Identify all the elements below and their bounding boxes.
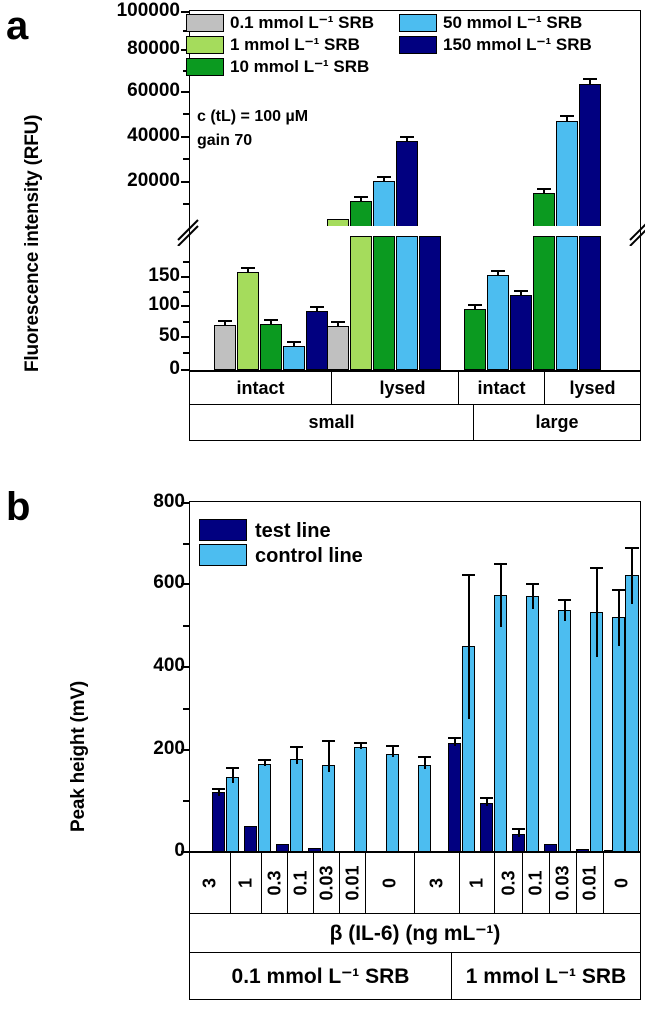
errorbar-cap <box>468 304 482 306</box>
errorbar-cap <box>264 319 278 321</box>
errorbar-cap <box>331 321 345 323</box>
cat-b-l1-0.1: 0.1 <box>287 852 314 914</box>
errorbar-cap <box>514 290 528 292</box>
panel-b-ytick-200: 200 <box>95 738 185 760</box>
bar-b-l1-1-test <box>244 826 257 852</box>
panel-a-annotation-gain: gain 70 <box>197 132 252 150</box>
bar-b-l1-0.3-test <box>276 844 289 852</box>
cat-b-l1-0.03: 0.03 <box>313 852 340 914</box>
bar-b-r1-0.01-control <box>612 617 625 852</box>
errorbar-cap <box>537 188 551 190</box>
errorbar-cap <box>290 746 303 748</box>
errorbar-cap <box>480 797 493 799</box>
legend-swatch-0.1mmol <box>186 14 224 32</box>
errorbar-cap <box>494 563 507 565</box>
legend-label-150mmol: 150 mmol L⁻¹ SRB <box>443 35 592 55</box>
panel-a-ytick-100000: 100000 <box>60 0 180 22</box>
errorbar-cap <box>386 745 399 747</box>
errorbar <box>232 767 234 783</box>
bar-b-r1-0-control <box>625 575 639 852</box>
bar-a-large-intact-10mmol <box>464 309 486 370</box>
legend-swatch-150mmol <box>399 36 437 54</box>
errorbar-cap <box>241 267 255 269</box>
legend-label-test-line: test line <box>255 520 331 543</box>
errorbar <box>500 563 502 627</box>
panel-a-y-axis-title: Fluorescence intensity (RFU) <box>22 115 44 372</box>
axis-break-icon-left <box>176 216 202 246</box>
panel-b-legend: test line control line <box>199 519 429 575</box>
bar-a-large-lysed-150mmol-lower <box>579 236 601 370</box>
bar-b-r1-1-control <box>494 595 507 852</box>
errorbar-cap <box>226 767 239 769</box>
errorbar <box>631 547 633 604</box>
legend-swatch-10mmol <box>186 58 224 76</box>
bar-a-small-intact-10mmol <box>260 324 282 370</box>
cat-b-group-0.1mmol: 0.1 mmol L⁻¹ SRB <box>189 952 452 1000</box>
legend-label-1mmol: 1 mmol L⁻¹ SRB <box>230 35 360 55</box>
bar-b-r1-0.3-control <box>526 596 539 852</box>
bar-a-large-lysed-50mmol-lower <box>556 236 578 370</box>
cat-b-r1-0.03: 0.03 <box>549 852 577 914</box>
errorbar-cap <box>491 270 505 272</box>
legend-label-0.1mmol: 0.1 mmol L⁻¹ SRB <box>230 13 374 33</box>
figure-root: a Fluorescence intensity (RFU) 100000 80… <box>0 0 645 1010</box>
cat-b-r1-1: 1 <box>459 852 495 914</box>
errorbar <box>468 574 470 719</box>
errorbar-cap <box>526 583 539 585</box>
cat-b-r1-0.01: 0.01 <box>576 852 604 914</box>
legend-label-50mmol: 50 mmol L⁻¹ SRB <box>443 13 582 33</box>
errorbar-cap <box>400 136 414 138</box>
spacer <box>576 849 578 851</box>
cat-b-r1-0.1: 0.1 <box>522 852 550 914</box>
cat-a-large-intact: intact <box>458 371 545 405</box>
panel-a-legend: 0.1 mmol L⁻¹ SRB 1 mmol L⁻¹ SRB 10 mmol … <box>186 12 631 80</box>
cat-a-large-lysed: lysed <box>544 371 641 405</box>
cat-a-small: small <box>189 404 474 441</box>
panel-a-ytick-40000: 40000 <box>60 125 180 147</box>
cat-b-l1-0: 0 <box>365 852 415 914</box>
legend-swatch-50mmol <box>399 14 437 32</box>
legend-label-control-line: control line <box>255 545 363 568</box>
legend-label-10mmol: 10 mmol L⁻¹ SRB <box>230 57 369 77</box>
cat-b-group-1mmol: 1 mmol L⁻¹ SRB <box>451 952 641 1000</box>
bar-b-l1-3-test <box>212 792 225 852</box>
legend-swatch-test-line <box>199 519 247 541</box>
cat-a-small-intact: intact <box>189 371 332 405</box>
errorbar-cap <box>212 788 225 790</box>
errorbar-cap <box>625 547 639 549</box>
panel-b-y-axis-title: Peak height (mV) <box>68 681 90 832</box>
errorbar-cap <box>354 196 368 198</box>
errorbar <box>328 740 330 772</box>
errorbar-cap <box>354 742 367 744</box>
panel-b-letter: b <box>6 487 30 527</box>
errorbar-cap <box>462 574 475 576</box>
legend-swatch-control-line <box>199 544 247 566</box>
errorbar-cap <box>560 115 574 117</box>
panel-a-ytick-150: 150 <box>60 265 180 287</box>
panel-b-ytick-400: 400 <box>95 655 185 677</box>
errorbar-cap <box>310 306 324 308</box>
bar-a-small-lysed-1mmol-lower <box>350 236 372 370</box>
errorbar-cap <box>287 341 301 343</box>
bar-a-small-intact-50mmol <box>283 346 305 370</box>
errorbar-cap <box>218 320 232 322</box>
cat-a-large: large <box>473 404 641 441</box>
panel-b-ytick-600: 600 <box>95 572 185 594</box>
panel-b-ytick-800: 800 <box>95 491 185 513</box>
bar-a-small-lysed-50mmol-lower <box>396 236 418 370</box>
errorbar <box>424 756 426 769</box>
bar-b-l1-0-control <box>418 765 431 852</box>
errorbar-cap <box>418 756 431 758</box>
bar-b-r1-0.1-control <box>558 610 571 852</box>
bar-b-r1-3-test <box>448 743 461 852</box>
errorbar-cap <box>512 828 525 830</box>
errorbar-cap <box>258 759 271 761</box>
bar-a-small-intact-1mmol <box>237 272 259 370</box>
errorbar <box>596 567 598 657</box>
bar-b-l1-3-control <box>226 777 239 852</box>
cat-b-r1-0: 0 <box>603 852 641 914</box>
bar-a-small-intact-0.1mmol <box>214 325 236 370</box>
bar-a-large-intact-50mmol <box>487 275 509 370</box>
bar-a-small-lysed-150mmol <box>396 141 418 231</box>
cat-a-small-lysed: lysed <box>331 371 474 405</box>
axis-break-icon-right <box>628 216 645 246</box>
bar-b-l1-0.3-control <box>290 759 303 852</box>
bar-a-large-lysed-10mmol-lower <box>533 236 555 370</box>
panel-a-letter: a <box>6 6 28 46</box>
panel-a-ytick-60000: 60000 <box>60 80 180 102</box>
errorbar-cap <box>322 740 335 742</box>
bar-a-small-lysed-50mmol <box>373 181 395 231</box>
panel-a-ytick-80000: 80000 <box>60 38 180 60</box>
panel-a-ytick-20000: 20000 <box>60 170 180 192</box>
errorbar <box>618 589 620 646</box>
panel-a-ytick-0: 0 <box>60 358 180 380</box>
legend-swatch-1mmol <box>186 36 224 54</box>
bar-b-l1-0.1-control <box>322 765 335 852</box>
errorbar-cap <box>377 176 391 178</box>
panel-a-ytick-50: 50 <box>60 325 180 347</box>
errorbar <box>392 745 394 757</box>
errorbar-cap <box>590 567 603 569</box>
bar-a-small-lysed-0.1mmol <box>327 326 349 370</box>
cat-b-l1-1: 1 <box>230 852 262 914</box>
errorbar <box>296 746 298 764</box>
cat-b-l1-0.3: 0.3 <box>261 852 288 914</box>
errorbar-cap <box>448 737 461 739</box>
bar-a-large-lysed-50mmol <box>556 121 578 231</box>
cat-b-r1-0.3: 0.3 <box>494 852 523 914</box>
bar-a-small-intact-150mmol <box>306 311 328 370</box>
cat-b-l1-3: 3 <box>189 852 231 914</box>
bar-b-l1-1-control <box>258 764 271 852</box>
panel-a-ytick-100: 100 <box>60 294 180 316</box>
errorbar-cap <box>558 599 571 601</box>
bar-a-large-intact-150mmol <box>510 295 532 370</box>
cat-b-r1-3: 3 <box>414 852 460 914</box>
panel-a-annotation-concentration: c (tL) = 100 µM <box>197 108 308 126</box>
panel-b-x-axis-title: β (IL-6) (ng mL⁻¹) <box>189 913 641 953</box>
bar-b-r1-1-test <box>480 803 493 852</box>
bar-a-large-lysed-150mmol <box>579 84 601 231</box>
bar-b-r1-0.1-test <box>544 844 557 852</box>
errorbar-cap <box>612 589 625 591</box>
errorbar <box>532 583 534 609</box>
panel-b-x-axis-title-text: β (IL-6) (ng mL⁻¹) <box>330 921 501 946</box>
bar-a-small-lysed-10mmol-lower <box>373 236 395 370</box>
bar-b-l1-0.01-control <box>386 754 399 852</box>
bar-a-small-lysed-150mmol-lower <box>419 236 441 370</box>
bar-b-l1-0.03-control <box>354 747 367 852</box>
panel-b-ytick-0: 0 <box>95 840 185 862</box>
errorbar <box>564 599 566 621</box>
cat-b-l1-0.01: 0.01 <box>339 852 366 914</box>
